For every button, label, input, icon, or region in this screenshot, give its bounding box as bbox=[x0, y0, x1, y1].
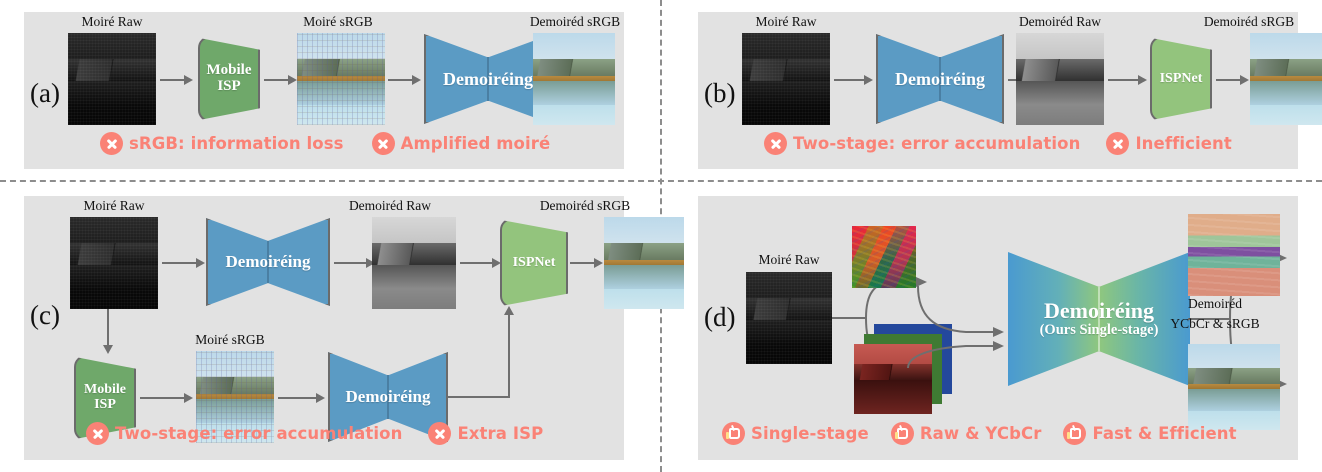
panel-c-arrow-top-4 bbox=[570, 258, 604, 268]
panel-d-thumb-demoired-ycbcr bbox=[1188, 214, 1280, 296]
panel-a-bullet-2: Amplified moiré bbox=[372, 132, 551, 155]
panel-d-thumb-demoired-srgb bbox=[1188, 344, 1280, 430]
panel-a-label-mid: Moiré sRGB bbox=[282, 14, 394, 30]
panel-a-module-demoireing-label: Demoiréing bbox=[443, 70, 533, 89]
panel-c-module-demoireing-top-label: Demoiréing bbox=[226, 253, 311, 271]
panel-a-arrow-3 bbox=[388, 75, 422, 85]
x-icon bbox=[764, 132, 787, 155]
panel-b-bullets: Two-stage: error accumulation Inefficien… bbox=[764, 132, 1232, 155]
panel-b-label-mid: Demoiréd Raw bbox=[994, 14, 1126, 30]
panel-b-module-ispnet-label: ISPNet bbox=[1160, 72, 1203, 87]
panel-b-bullet-1-text: Two-stage: error accumulation bbox=[793, 134, 1080, 153]
panel-c-arrow-bottom-1 bbox=[140, 393, 194, 403]
horizontal-divider bbox=[0, 180, 1322, 182]
panel-d-bullet-2-text: Raw & YCbCr bbox=[920, 424, 1042, 443]
panel-a-thumb-moire-raw bbox=[68, 33, 156, 125]
panel-d-label-output-2: YCbCr & sRGB bbox=[1150, 316, 1280, 332]
panel-d-module-demoireing-line1: Demoiréing bbox=[1044, 299, 1154, 322]
panel-b-thumb-demoired-raw bbox=[1016, 33, 1104, 125]
panel-d: (d) Moiré Raw bbox=[698, 196, 1298, 460]
x-icon bbox=[428, 422, 451, 445]
thumbs-up-icon bbox=[722, 422, 745, 445]
panel-c-module-mobile-isp-line2: ISP bbox=[94, 398, 116, 413]
panel-b-arrow-1 bbox=[834, 75, 874, 85]
panel-c-arrow-branch-down bbox=[104, 309, 116, 355]
panel-c-label-output: Demoiréd sRGB bbox=[520, 198, 650, 214]
panel-c-bullet-1: Two-stage: error accumulation bbox=[86, 422, 402, 445]
panel-a-thumb-moire-srgb bbox=[297, 33, 385, 125]
panel-d-label-input: Moiré Raw bbox=[734, 252, 844, 268]
panel-a-bullet-1-text: sRGB: information loss bbox=[129, 134, 344, 153]
panel-c-thumb-demoired-srgb bbox=[604, 217, 684, 309]
panel-a-letter: (a) bbox=[30, 80, 60, 107]
panel-b-bullet-2-text: Inefficient bbox=[1135, 134, 1231, 153]
panel-c-module-ispnet-label: ISPNet bbox=[513, 256, 556, 271]
panel-b-label-input: Moiré Raw bbox=[730, 14, 842, 30]
panel-c-arrow-top-1 bbox=[162, 258, 206, 268]
panel-a-bullet-2-text: Amplified moiré bbox=[401, 134, 551, 153]
panel-c-thumb-moire-raw bbox=[70, 217, 158, 309]
panel-c-bullet-1-text: Two-stage: error accumulation bbox=[115, 424, 402, 443]
panel-d-letter: (d) bbox=[704, 304, 735, 331]
x-icon bbox=[100, 132, 123, 155]
panel-a-bullet-1: sRGB: information loss bbox=[100, 132, 344, 155]
panel-d-merge-arrows bbox=[894, 252, 1024, 412]
panel-d-label-output-1: Demoiréd bbox=[1150, 296, 1280, 312]
panel-b-thumb-demoired-srgb bbox=[1250, 33, 1322, 125]
panel-b-arrow-3 bbox=[1108, 75, 1148, 85]
panel-b: (b) Moiré Raw Demoiréing Demoiréd Raw bbox=[698, 12, 1298, 169]
panel-d-bullet-3-text: Fast & Efficient bbox=[1092, 424, 1236, 443]
panel-d-bullet-1: Single-stage bbox=[722, 422, 869, 445]
panel-c-arrow-feedback-up bbox=[448, 304, 538, 400]
panel-c-arrow-bottom-2 bbox=[278, 393, 326, 403]
thumbs-up-icon bbox=[891, 422, 914, 445]
panel-c-bullet-2-text: Extra ISP bbox=[457, 424, 543, 443]
panel-a-label-output: Demoiréd sRGB bbox=[510, 14, 640, 30]
panel-d-bullet-1-text: Single-stage bbox=[751, 424, 869, 443]
panel-b-arrow-4 bbox=[1216, 75, 1250, 85]
panel-c-arrow-top-2 bbox=[334, 258, 376, 268]
panel-c-label-bottom-mid: Moiré sRGB bbox=[172, 332, 288, 348]
panel-d-bullets: Single-stage Raw & YCbCr Fast & Efficien… bbox=[722, 422, 1237, 445]
x-icon bbox=[372, 132, 395, 155]
panel-d-bullet-3: Fast & Efficient bbox=[1063, 422, 1236, 445]
panel-a-module-mobile-isp-line2: ISP bbox=[217, 79, 240, 95]
panel-b-module-demoireing-label: Demoiréing bbox=[895, 70, 985, 89]
panel-a-bullets: sRGB: information loss Amplified moiré bbox=[100, 132, 550, 155]
panel-c-bullet-2: Extra ISP bbox=[428, 422, 543, 445]
panel-d-module-demoireing-line2: (Ours Single-stage) bbox=[1040, 323, 1159, 338]
panel-c-label-input: Moiré Raw bbox=[58, 198, 170, 214]
panel-a-arrow-1 bbox=[160, 75, 194, 85]
x-icon bbox=[1106, 132, 1129, 155]
panel-b-label-output: Demoiréd sRGB bbox=[1184, 14, 1314, 30]
panel-c-module-mobile-isp-line1: Mobile bbox=[84, 383, 126, 398]
panel-c-bullets: Two-stage: error accumulation Extra ISP bbox=[86, 422, 543, 445]
panel-a: (a) Moiré Raw Mobile ISP Moiré sRGB bbox=[24, 12, 624, 169]
panel-a-label-input: Moiré Raw bbox=[56, 14, 168, 30]
panel-b-letter: (b) bbox=[704, 80, 735, 107]
panel-b-bullet-1: Two-stage: error accumulation bbox=[764, 132, 1080, 155]
panel-c-arrow-top-3 bbox=[460, 258, 502, 268]
panel-c-module-demoireing-top[interactable]: Demoiréing bbox=[206, 218, 330, 306]
panel-b-thumb-moire-raw bbox=[742, 33, 830, 125]
panel-c-module-ispnet[interactable]: ISPNet bbox=[500, 218, 568, 308]
panel-c-letter: (c) bbox=[30, 302, 60, 329]
x-icon bbox=[86, 422, 109, 445]
panel-a-thumb-demoired-srgb bbox=[533, 33, 615, 125]
panel-b-module-ispnet[interactable]: ISPNet bbox=[1150, 36, 1212, 122]
panel-a-module-mobile-isp-line1: Mobile bbox=[207, 63, 252, 79]
panel-d-thumb-moire-raw bbox=[746, 272, 832, 364]
panel-c-thumb-demoired-raw bbox=[372, 217, 456, 309]
panel-c: (c) Moiré Raw Demoiréing Demoiréd Raw bbox=[24, 196, 624, 460]
panel-a-module-mobile-isp[interactable]: Mobile ISP bbox=[198, 36, 260, 122]
panel-c-module-demoireing-bottom-label: Demoiréing bbox=[346, 388, 431, 406]
panel-d-bullet-2: Raw & YCbCr bbox=[891, 422, 1042, 445]
figure-root: (a) Moiré Raw Mobile ISP Moiré sRGB bbox=[0, 0, 1322, 472]
panel-a-arrow-2 bbox=[264, 75, 298, 85]
panel-b-module-demoireing[interactable]: Demoiréing bbox=[876, 34, 1004, 124]
panel-c-label-top-mid: Demoiréd Raw bbox=[324, 198, 456, 214]
panel-b-bullet-2: Inefficient bbox=[1106, 132, 1231, 155]
thumbs-up-icon bbox=[1063, 422, 1086, 445]
